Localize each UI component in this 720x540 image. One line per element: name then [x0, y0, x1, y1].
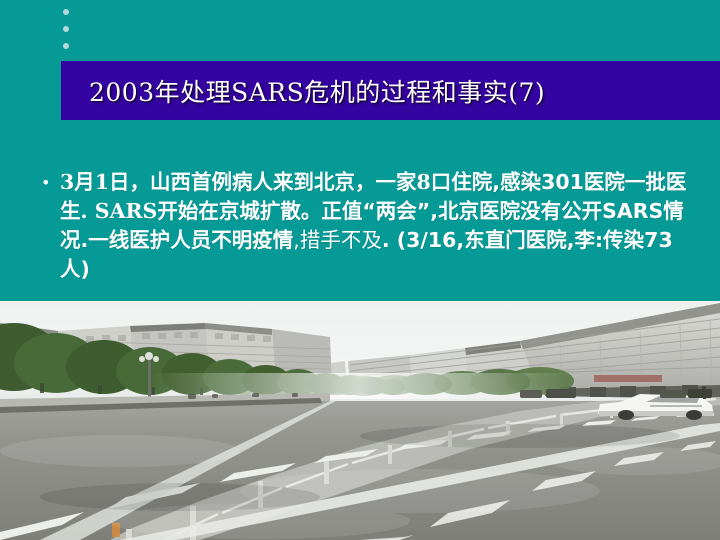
bullet-text-segment-8: ,措手不及	[293, 228, 382, 252]
decorative-dot-column	[63, 7, 75, 57]
decorative-dot-icon	[63, 43, 69, 49]
slide-body: • 3月1日，山西首例病人来到北京，一家8口住院,感染301医院一批医生. SA…	[36, 168, 698, 284]
slide-photo	[0, 301, 720, 540]
beijing-avenue-photo	[0, 301, 720, 540]
bullet-text-segment-4: . SARS	[81, 199, 158, 223]
bullet-text: 3月1日，山西首例病人来到北京，一家8口住院,感染301医院一批医生. SARS…	[60, 168, 698, 284]
decorative-dot-icon	[63, 9, 69, 15]
presentation-slide: 2003年处理SARS危机的过程和事实(7) • 3月1日，山西首例病人来到北京…	[0, 0, 720, 540]
bullet-text-segment-2: ,感染301医	[492, 170, 604, 194]
slide-title-banner: 2003年处理SARS危机的过程和事实(7)	[61, 61, 720, 120]
slide-title: 2003年处理SARS危机的过程和事实(7)	[89, 73, 545, 109]
bullet-text-segment-6: ,北京医	[430, 199, 499, 223]
bullet-text-segment-5: 开始在京城扩散。正值“两会”	[157, 199, 430, 223]
bullet-list-item: • 3月1日，山西首例病人来到北京，一家8口住院,感染301医院一批医生. SA…	[36, 168, 698, 284]
bullet-marker: •	[36, 168, 60, 198]
decorative-dot-icon	[63, 26, 69, 32]
bullet-text-segment-1: 3月1日，山西首例病人来到北京，一家8口住院	[60, 170, 492, 194]
